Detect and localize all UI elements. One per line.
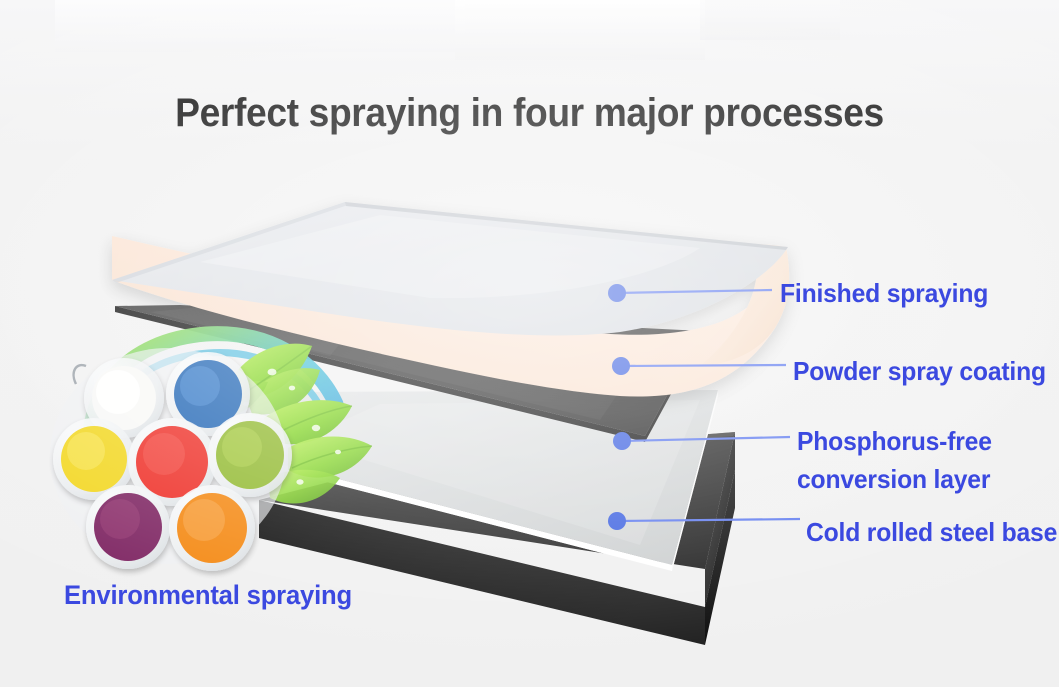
label-cold-rolled-steel-base: Cold rolled steel base <box>806 513 1057 551</box>
infographic-canvas: Perfect spraying in four major processes <box>0 0 1059 687</box>
label-finished-spraying: Finished spraying <box>780 274 988 312</box>
label-environmental-spraying: Environmental spraying <box>64 576 352 616</box>
label-phosphorus-line-1: Phosphorus-free <box>797 422 1035 460</box>
label-phosphorus-free-conversion: Phosphorus-free conversion layer <box>797 422 1035 499</box>
label-powder-spray-coating: Powder spray coating <box>793 352 1046 390</box>
label-phosphorus-line-2: conversion layer <box>797 460 1035 498</box>
